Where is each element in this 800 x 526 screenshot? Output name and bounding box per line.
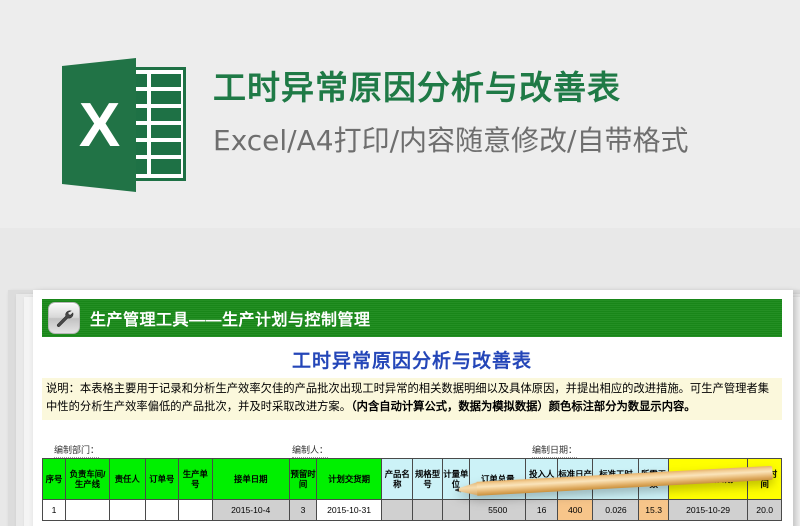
banner-subtitle: Excel/A4打印/内容随意修改/自带格式	[213, 117, 783, 165]
table-cell	[442, 500, 469, 521]
table-cell	[145, 500, 178, 521]
table-header-cell: 产品名称	[382, 459, 413, 500]
banner-title: 工时异常原因分析与改善表	[213, 66, 783, 110]
table-cell: 1	[43, 500, 66, 521]
table-cell	[179, 500, 212, 521]
document-preview: 生产管理工具——生产计划与控制管理 工时异常原因分析与改善表 说明：本表格主要用…	[0, 228, 800, 526]
table-header-cell: 生产单号	[179, 459, 212, 500]
table-header-cell: 预留时间	[289, 459, 316, 500]
meta-department-label: 编制部门：	[54, 443, 99, 458]
meta-date-label: 编制日期：	[532, 443, 577, 458]
table-header-cell: 负责车间/生产线	[66, 459, 110, 500]
banner-text-block: 工时异常原因分析与改善表 Excel/A4打印/内容随意修改/自带格式	[213, 66, 783, 165]
meta-row: 编制部门： 编制人： 编制日期：	[42, 443, 782, 457]
table-row: 12015-10-432015-10-315500164000.02615.32…	[43, 500, 782, 521]
table-header-cell: 订单号	[145, 459, 178, 500]
promo-banner: X 工时异常原因分析与改善表 Excel/A4打印/内容随意修改/自带格式	[0, 0, 800, 228]
sheet-note: 说明：本表格主要用于记录和分析生产效率欠佳的产品批次出现工时异常的相关数据明细以…	[42, 378, 782, 420]
table-cell: 400	[557, 500, 593, 521]
table-cell: 5500	[469, 500, 526, 521]
table-cell	[66, 500, 110, 521]
table-cell: 3	[289, 500, 316, 521]
wrench-icon	[48, 302, 80, 334]
table-header-cell: 规格型号	[413, 459, 442, 500]
sheet-title: 工时异常原因分析与改善表	[42, 346, 782, 373]
table-header-cell: 计划交货期	[317, 459, 382, 500]
table-header-cell: 接单日期	[212, 459, 289, 500]
table-cell	[413, 500, 442, 521]
tool-banner: 生产管理工具——生产计划与控制管理	[42, 299, 782, 337]
table-cell: 16	[526, 500, 557, 521]
table-cell: 20.0	[748, 500, 782, 521]
table-cell: 2015-10-29	[668, 500, 748, 521]
sheet-note-bold-tail: （内含自动计算公式，数据为模拟数据）颜色标注部分为数显示内容。	[351, 401, 696, 413]
table-cell	[382, 500, 413, 521]
table-body: 12015-10-432015-10-315500164000.02615.32…	[43, 500, 782, 521]
spreadsheet-sheet: 生产管理工具——生产计划与控制管理 工时异常原因分析与改善表 说明：本表格主要用…	[33, 290, 793, 526]
table-cell	[109, 500, 145, 521]
excel-logo-letter: X	[62, 58, 136, 192]
table-header-cell: 序号	[43, 459, 66, 500]
table-cell: 2015-10-4	[212, 500, 289, 521]
table-cell: 15.3	[639, 500, 668, 521]
tool-banner-label: 生产管理工具——生产计划与控制管理	[90, 306, 371, 330]
table-cell: 2015-10-31	[317, 500, 382, 521]
table-header-cell: 责任人	[109, 459, 145, 500]
table-cell: 0.026	[593, 500, 639, 521]
data-table: 序号负责车间/生产线责任人订单号生产单号接单日期预留时间计划交货期产品名称规格型…	[42, 458, 782, 521]
excel-logo: X	[62, 58, 188, 192]
meta-author-label: 编制人：	[292, 443, 328, 458]
